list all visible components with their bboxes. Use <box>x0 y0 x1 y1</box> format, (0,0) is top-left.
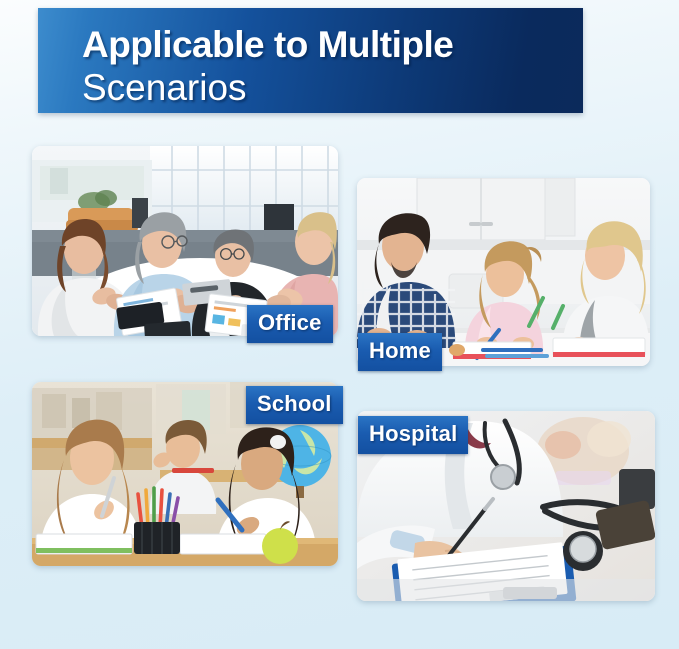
badge-office[interactable]: Office <box>247 305 333 343</box>
badge-home[interactable]: Home <box>358 333 442 371</box>
badge-hospital[interactable]: Hospital <box>358 416 468 454</box>
header-banner: Applicable to Multiple Scenarios <box>38 8 583 113</box>
header-title-line1: Applicable to Multiple <box>82 24 453 66</box>
badge-school[interactable]: School <box>246 386 343 424</box>
promo-banner-page: Applicable to Multiple Scenarios <box>0 0 679 649</box>
header-title-line2: Scenarios <box>82 67 247 109</box>
